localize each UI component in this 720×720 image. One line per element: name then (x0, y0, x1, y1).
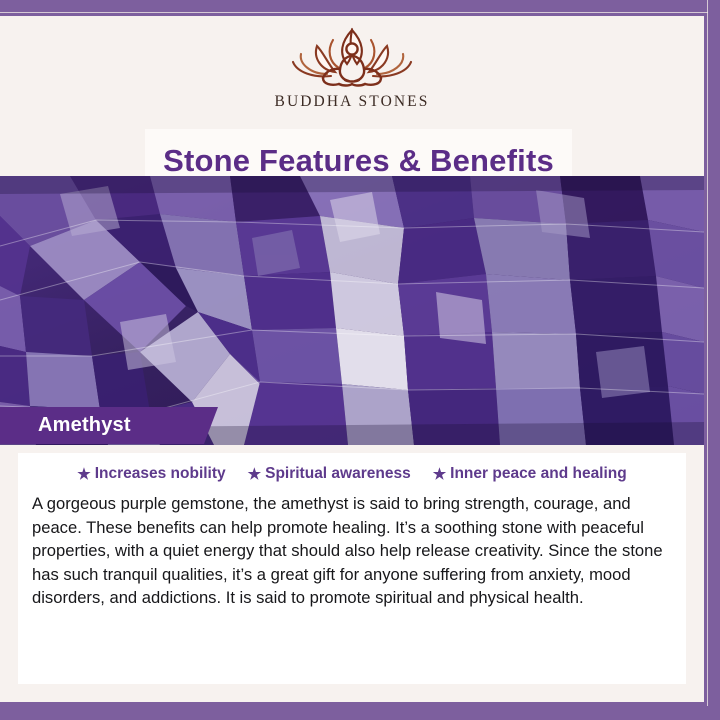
star-icon: ★ (248, 467, 261, 482)
page-surface: BUDDHA STONES Stone Features & Benefits (0, 16, 704, 702)
amethyst-photo (0, 176, 704, 445)
star-icon: ★ (433, 467, 446, 482)
benefit-label: Spiritual awareness (265, 465, 411, 483)
content-card: ★ Increases nobility ★ Spiritual awarene… (18, 453, 686, 684)
star-icon: ★ (77, 467, 90, 482)
frame-hairline-right (707, 0, 708, 706)
poster-root: BUDDHA STONES Stone Features & Benefits (0, 0, 720, 720)
amethyst-photo-art (0, 176, 704, 445)
stone-name-tab: Amethyst (0, 407, 218, 444)
brand-logo: BUDDHA STONES (0, 16, 704, 128)
benefit-item: ★ Spiritual awareness (248, 465, 411, 483)
page-title: Stone Features & Benefits (163, 143, 554, 179)
benefit-label: Inner peace and healing (450, 465, 627, 483)
benefits-row: ★ Increases nobility ★ Spiritual awarene… (18, 453, 686, 483)
benefit-label: Increases nobility (95, 465, 226, 483)
stone-name: Amethyst (38, 414, 131, 437)
lotus-meditation-icon (277, 24, 427, 90)
benefit-item: ★ Increases nobility (77, 465, 225, 483)
benefit-item: ★ Inner peace and healing (433, 465, 627, 483)
brand-name: BUDDHA STONES (275, 93, 430, 111)
stone-description: A gorgeous purple gemstone, the amethyst… (32, 492, 672, 610)
frame-hairline-top (0, 12, 708, 13)
